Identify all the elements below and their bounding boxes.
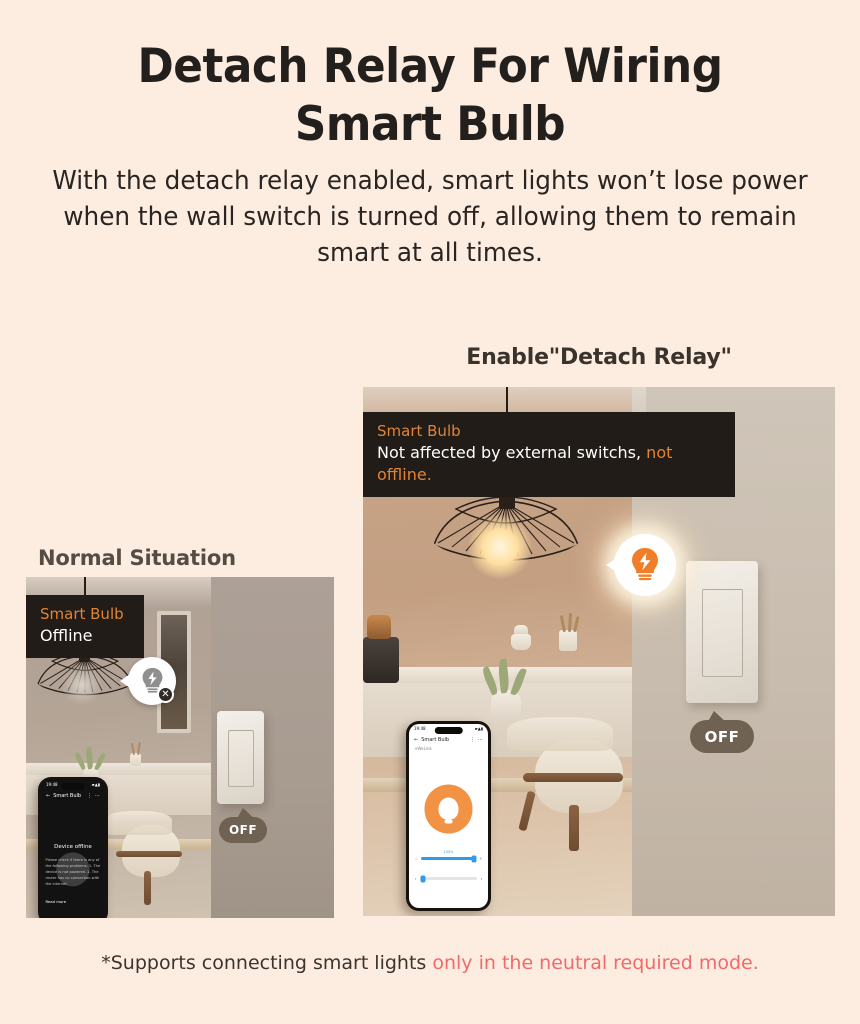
brightness-track[interactable]: 100% (421, 857, 476, 860)
temperature-slider[interactable]: ◐ ◑ (415, 876, 483, 881)
offline-x-icon: ✕ (157, 686, 174, 703)
ceramic-jar-small (514, 625, 528, 634)
lamp-glow (468, 515, 532, 579)
more-icon[interactable]: ⋯ (95, 793, 100, 799)
footnote-highlight: only in the neutral required mode. (432, 952, 758, 974)
phone-notch (61, 783, 84, 790)
phone-screen-on[interactable]: 19:48 ▰▲▮ ← Smart Bulb ⋮ ⋯ eWeLink ☼ (409, 724, 488, 908)
utensil-crock (559, 630, 577, 651)
right-section-heading: Enable"Detach Relay" (363, 345, 835, 370)
page-title-line2: Smart Bulb (30, 96, 830, 154)
status-banner: Smart Bulb Not affected by external swit… (363, 412, 735, 497)
chair-leg (144, 871, 151, 905)
switch-state-badge: OFF (219, 817, 267, 843)
wall-switch-rocker[interactable] (228, 730, 254, 787)
copper-kettle (367, 615, 391, 639)
page-title-line1: Detach Relay For Wiring (30, 38, 830, 96)
bulb-powered-icon (614, 534, 676, 596)
coffee-machine (363, 637, 399, 683)
app-title: Smart Bulb (53, 793, 81, 799)
footnote-plain: *Supports connecting smart lights (101, 952, 432, 974)
temperature-track[interactable] (420, 877, 477, 880)
temp-low-icon: ◐ (415, 876, 417, 881)
brightness-high-icon: ☀ (479, 856, 483, 861)
brightness-low-icon: ☼ (415, 856, 419, 861)
ceramic-jar (511, 634, 531, 650)
banner-title: Smart Bulb (377, 421, 721, 442)
app-header: ← Smart Bulb ⋮ ⋯ (41, 793, 105, 799)
temp-high-icon: ◑ (480, 876, 482, 881)
status-banner: Smart Bulb Offline (26, 595, 144, 658)
phone-device[interactable]: 19:48 ▰▲▮ ← Smart Bulb ⋮ ⋯ Device offlin… (38, 777, 108, 918)
page-subtitle: With the detach relay enabled, smart lig… (50, 163, 810, 271)
brightness-value: 100% (444, 850, 454, 854)
chair-arm (116, 851, 182, 857)
bulb-offline-icon: ✕ (128, 657, 176, 705)
phone-screen-offline[interactable]: 19:48 ▰▲▮ ← Smart Bulb ⋮ ⋯ Device offlin… (41, 780, 105, 918)
wall-switch-plate[interactable] (217, 711, 264, 804)
detach-relay-scene: OFF 19:48 ▰▲▮ ← Smart Bulb ⋮ ⋯ eWeLink (363, 387, 835, 916)
footnote: *Supports connecting smart lights only i… (0, 952, 860, 974)
back-icon[interactable]: ← (414, 737, 418, 743)
banner-body: Not affected by external switchs, not of… (377, 442, 721, 486)
wall-switch-plate[interactable] (686, 561, 758, 703)
banner-title: Smart Bulb (40, 604, 130, 625)
kitchen-counter (26, 763, 211, 775)
offline-title: Device offline (41, 844, 105, 850)
page-title: Detach Relay For Wiring Smart Bulb (30, 38, 830, 154)
brightness-slider[interactable]: ☼ 100% ☀ (415, 856, 483, 861)
utensil-crock (130, 753, 141, 766)
app-header: ← Smart Bulb ⋮ ⋯ (409, 737, 488, 743)
status-time: 19:48 (414, 726, 426, 736)
menu-icon[interactable]: ⋮ (87, 793, 92, 799)
lamp-glow-off (62, 665, 102, 705)
more-icon[interactable]: ⋯ (478, 737, 483, 743)
banner-body: Offline (40, 625, 130, 647)
read-more-link[interactable]: Read more (45, 899, 66, 904)
menu-icon[interactable]: ⋮ (470, 737, 475, 743)
offline-body: Please check if there is any of the foll… (45, 857, 100, 887)
banner-body-plain: Not affected by external switchs, (377, 443, 646, 462)
left-section-heading: Normal Situation (38, 546, 236, 570)
normal-situation-scene: ✕ OFF 19:48 ▰▲▮ ← Smart Bulb (26, 577, 334, 918)
app-brand-label: eWeLink (415, 746, 432, 751)
status-signal-icon: ▰▲▮ (92, 782, 100, 792)
back-icon[interactable]: ← (46, 793, 50, 799)
promo-page: Detach Relay For Wiring Smart Bulb With … (0, 0, 860, 1024)
status-time: 19:48 (46, 782, 58, 792)
wall-switch-rocker[interactable] (702, 589, 743, 677)
bulb-glyph-icon (439, 797, 459, 820)
brightness-fill (421, 857, 473, 860)
kitchen-counter (363, 667, 632, 683)
temperature-knob[interactable] (420, 875, 425, 882)
plant-pot (491, 690, 521, 722)
brightness-knob[interactable] (471, 855, 476, 862)
app-title: Smart Bulb (421, 737, 449, 743)
phone-device[interactable]: 19:48 ▰▲▮ ← Smart Bulb ⋮ ⋯ eWeLink ☼ (406, 721, 491, 911)
phone-notch (434, 727, 462, 734)
dining-chair-back (507, 717, 613, 751)
dining-chair-back (104, 811, 172, 835)
chair-arm (523, 773, 623, 782)
chair-leg (569, 805, 579, 851)
switch-state-badge: OFF (690, 720, 754, 753)
status-signal-icon: ▰▲▮ (475, 726, 483, 736)
bulb-power-dial[interactable] (424, 784, 473, 833)
